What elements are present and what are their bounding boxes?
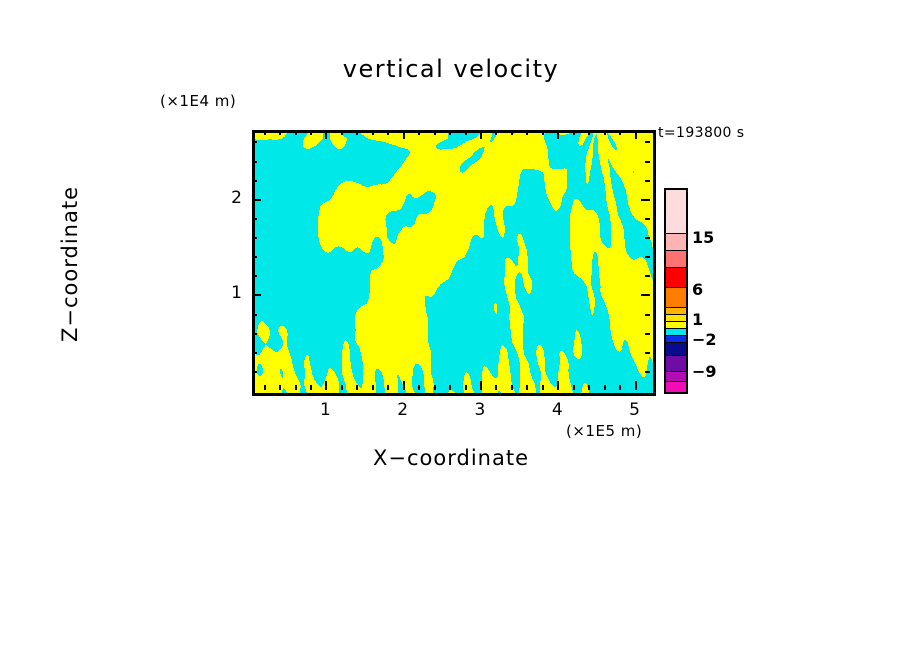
x-minor-tick-top <box>495 130 497 135</box>
timestamp-annotation: t=193800 s <box>658 125 744 141</box>
x-tick-label: 4 <box>537 400 577 420</box>
x-major-tick <box>557 381 559 390</box>
x-minor-tick <box>449 385 451 390</box>
x-tick-label: 2 <box>383 400 423 420</box>
y-axis-title: Z−coordinate <box>58 134 82 394</box>
y-minor-tick <box>252 352 257 354</box>
x-minor-tick <box>295 385 297 390</box>
x-minor-tick-top <box>573 130 575 135</box>
x-minor-tick <box>341 385 343 390</box>
x-major-tick-top <box>325 130 327 139</box>
colorbar-tick-label: 15 <box>692 228 714 247</box>
y-minor-tick <box>252 371 257 373</box>
y-minor-tick <box>252 161 257 163</box>
y-major-tick <box>252 294 261 296</box>
x-minor-tick <box>619 385 621 390</box>
colorbar-segment <box>666 190 686 234</box>
x-minor-tick-top <box>434 130 436 135</box>
y-minor-tick-right <box>645 371 650 373</box>
x-major-tick-top <box>557 130 559 139</box>
x-minor-tick-top <box>511 130 513 135</box>
x-minor-tick <box>573 385 575 390</box>
x-major-tick-top <box>403 130 405 139</box>
y-minor-tick <box>252 180 257 182</box>
y-tick-label: 2 <box>212 188 242 208</box>
y-minor-tick-right <box>645 275 650 277</box>
x-minor-tick <box>526 385 528 390</box>
colorbar-segment <box>666 234 686 251</box>
colorbar-segment <box>666 356 686 372</box>
x-minor-tick <box>279 385 281 390</box>
contour-plot-area <box>252 130 656 396</box>
colorbar <box>664 188 688 394</box>
y-minor-tick-right <box>645 314 650 316</box>
colorbar-segment <box>666 315 686 322</box>
x-minor-tick-top <box>542 130 544 135</box>
y-minor-tick-right <box>645 352 650 354</box>
x-minor-tick <box>542 385 544 390</box>
colorbar-segment <box>666 372 686 382</box>
y-major-tick-right <box>641 294 650 296</box>
y-minor-tick-right <box>645 256 650 258</box>
page-title: vertical velocity <box>252 55 650 83</box>
colorbar-tick-label: 1 <box>692 310 703 329</box>
x-minor-tick-top <box>449 130 451 135</box>
x-minor-tick-top <box>465 130 467 135</box>
y-minor-tick-right <box>645 180 650 182</box>
x-major-tick <box>480 381 482 390</box>
x-minor-tick <box>310 385 312 390</box>
y-minor-tick-right <box>645 218 650 220</box>
x-minor-tick <box>356 385 358 390</box>
x-minor-tick-top <box>588 130 590 135</box>
x-minor-tick-top <box>418 130 420 135</box>
y-minor-tick <box>252 141 257 143</box>
x-minor-tick-top <box>341 130 343 135</box>
y-axis-unit-label: (×1E4 m) <box>160 92 236 110</box>
x-minor-tick <box>387 385 389 390</box>
y-minor-tick <box>252 218 257 220</box>
x-tick-label: 3 <box>460 400 500 420</box>
colorbar-segment <box>666 343 686 356</box>
x-major-tick <box>325 381 327 390</box>
x-minor-tick-top <box>295 130 297 135</box>
x-minor-tick-top <box>387 130 389 135</box>
y-minor-tick-right <box>645 333 650 335</box>
x-minor-tick-top <box>356 130 358 135</box>
y-minor-tick <box>252 333 257 335</box>
x-major-tick-top <box>635 130 637 139</box>
x-minor-tick <box>372 385 374 390</box>
colorbar-segment <box>666 336 686 343</box>
x-minor-tick <box>588 385 590 390</box>
x-minor-tick-top <box>372 130 374 135</box>
x-tick-label: 5 <box>615 400 655 420</box>
velocity-field-canvas <box>255 133 653 393</box>
x-minor-tick-top <box>310 130 312 135</box>
x-minor-tick <box>264 385 266 390</box>
colorbar-tick-label: 6 <box>692 280 703 299</box>
y-minor-tick-right <box>645 237 650 239</box>
x-minor-tick <box>465 385 467 390</box>
y-minor-tick <box>252 237 257 239</box>
x-minor-tick <box>434 385 436 390</box>
y-major-tick <box>252 199 261 201</box>
colorbar-segment <box>666 251 686 268</box>
colorbar-segment <box>666 322 686 329</box>
x-minor-tick-top <box>619 130 621 135</box>
x-minor-tick-top <box>279 130 281 135</box>
x-axis-title: X−coordinate <box>252 446 650 470</box>
colorbar-segment <box>666 382 686 392</box>
x-axis-unit-label: (×1E5 m) <box>566 422 642 440</box>
y-tick-label: 1 <box>212 283 242 303</box>
y-major-tick-right <box>641 199 650 201</box>
y-minor-tick <box>252 275 257 277</box>
colorbar-tick-label: −2 <box>692 330 717 349</box>
y-minor-tick <box>252 256 257 258</box>
y-minor-tick-right <box>645 141 650 143</box>
x-minor-tick <box>604 385 606 390</box>
x-tick-label: 1 <box>305 400 345 420</box>
y-minor-tick <box>252 314 257 316</box>
x-minor-tick-top <box>604 130 606 135</box>
x-minor-tick-top <box>526 130 528 135</box>
x-minor-tick-top <box>264 130 266 135</box>
x-major-tick <box>635 381 637 390</box>
x-major-tick-top <box>480 130 482 139</box>
figure-canvas: vertical velocity (×1E4 m) t=193800 s 12… <box>0 0 904 654</box>
x-minor-tick <box>495 385 497 390</box>
colorbar-segment <box>666 329 686 336</box>
x-minor-tick <box>418 385 420 390</box>
colorbar-segment <box>666 268 686 288</box>
x-major-tick <box>403 381 405 390</box>
x-minor-tick <box>511 385 513 390</box>
colorbar-tick-label: −9 <box>692 362 717 381</box>
y-minor-tick-right <box>645 161 650 163</box>
colorbar-segment <box>666 288 686 308</box>
colorbar-segment <box>666 308 686 315</box>
